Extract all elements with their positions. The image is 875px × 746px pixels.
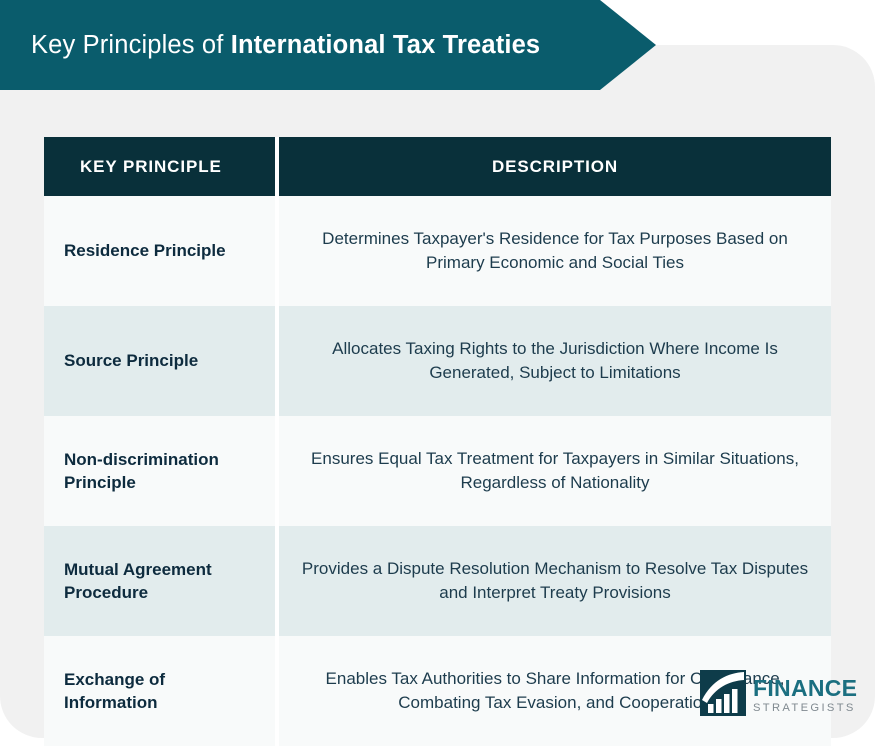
table-row: Residence Principle Determines Taxpayer'… xyxy=(44,196,831,306)
title-banner: Key Principles of International Tax Trea… xyxy=(0,0,656,90)
finance-strategists-bars-arc-icon xyxy=(700,670,746,716)
column-header-description: DESCRIPTION xyxy=(277,137,831,196)
principle-label: Residence Principle xyxy=(54,239,259,262)
principle-label: Exchange of Information xyxy=(54,668,259,715)
cell-principle: Mutual Agreement Procedure xyxy=(44,526,277,636)
page-title: Key Principles of International Tax Trea… xyxy=(0,31,540,60)
cell-principle: Residence Principle xyxy=(44,196,277,306)
principles-table: KEY PRINCIPLE DESCRIPTION Residence Prin… xyxy=(44,137,831,746)
page-title-normal: Key Principles of xyxy=(31,31,231,59)
cell-principle: Non-discrimination Principle xyxy=(44,416,277,526)
cell-description: Determines Taxpayer's Residence for Tax … xyxy=(277,196,831,306)
cell-principle: Exchange of Information xyxy=(44,636,277,746)
brand-logo: FINANCE STRATEGISTS xyxy=(700,668,833,716)
principle-label: Non-discrimination Principle xyxy=(54,448,259,495)
logo-word-finance: FINANCE xyxy=(753,677,857,700)
logo-word-strategists: STRATEGISTS xyxy=(753,703,857,714)
cell-description: Allocates Taxing Rights to the Jurisdict… xyxy=(277,306,831,416)
principle-label: Source Principle xyxy=(54,349,259,372)
table-row: Non-discrimination Principle Ensures Equ… xyxy=(44,416,831,526)
table-body: Residence Principle Determines Taxpayer'… xyxy=(44,196,831,746)
principle-label: Mutual Agreement Procedure xyxy=(54,558,259,605)
cell-principle: Source Principle xyxy=(44,306,277,416)
infographic-canvas: Key Principles of International Tax Trea… xyxy=(0,0,875,738)
table-header: KEY PRINCIPLE DESCRIPTION xyxy=(44,137,831,196)
logo-wordmark: FINANCE STRATEGISTS xyxy=(753,677,857,716)
column-header-key-principle: KEY PRINCIPLE xyxy=(44,137,277,196)
table-row: Source Principle Allocates Taxing Rights… xyxy=(44,306,831,416)
cell-description: Provides a Dispute Resolution Mechanism … xyxy=(277,526,831,636)
cell-description: Ensures Equal Tax Treatment for Taxpayer… xyxy=(277,416,831,526)
page-title-emphasis: International Tax Treaties xyxy=(231,31,541,59)
table-row: Mutual Agreement Procedure Provides a Di… xyxy=(44,526,831,636)
table-header-row: KEY PRINCIPLE DESCRIPTION xyxy=(44,137,831,196)
